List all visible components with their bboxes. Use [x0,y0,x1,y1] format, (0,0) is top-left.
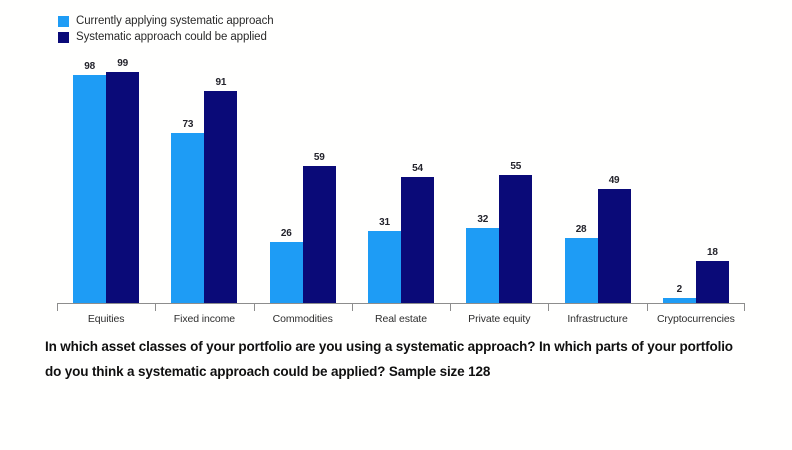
x-axis-tick-label: Commodities [254,313,352,325]
bar [401,177,434,303]
x-axis-tick [647,303,648,311]
x-axis-tick-label: Real estate [352,313,450,325]
bar-value-label: 55 [499,161,532,172]
bar-value-label: 73 [171,119,204,130]
legend-swatch-icon [58,16,69,27]
x-axis [57,303,745,313]
x-axis-tick-label: Fixed income [155,313,253,325]
bar-value-label: 28 [565,224,598,235]
chart-caption: In which asset classes of your portfolio… [45,334,751,384]
legend-item-label: Currently applying systematic approach [76,15,274,27]
bar-value-label: 18 [696,247,729,258]
bar [565,238,598,303]
chart-plot-area: 989973912659315432552849218 [57,70,745,303]
bar-value-label: 59 [303,152,336,163]
legend-item-currently-applying: Currently applying systematic approach [58,13,274,29]
bar [466,228,499,303]
legend-swatch-icon [58,32,69,43]
x-axis-tick-label: Private equity [450,313,548,325]
bar-value-label: 31 [368,217,401,228]
bar [204,91,237,303]
bar [499,175,532,303]
legend-item-could-be-applied: Systematic approach could be applied [58,29,274,45]
bar [598,189,631,303]
bar [73,75,106,303]
bar [368,231,401,303]
bar-value-label: 54 [401,163,434,174]
x-axis-line [57,303,745,304]
x-axis-tick [744,303,745,311]
bars-layer: 989973912659315432552849218 [57,70,745,303]
bar-value-label: 32 [466,214,499,225]
bar [106,72,139,303]
x-axis-tick [548,303,549,311]
x-axis-tick-label: Cryptocurrencies [647,313,745,325]
bar [303,166,336,303]
bar-value-label: 49 [598,175,631,186]
x-axis-tick-labels: EquitiesFixed incomeCommoditiesReal esta… [57,313,745,329]
x-axis-tick [57,303,58,311]
caption-line-1: In which asset classes of your portfolio… [45,339,676,354]
bar-value-label: 91 [204,77,237,88]
bar-value-label: 99 [106,58,139,69]
x-axis-tick [450,303,451,311]
bar [270,242,303,303]
x-axis-tick [254,303,255,311]
bar [171,133,204,303]
chart-legend: Currently applying systematic approach S… [58,13,274,45]
bar-value-label: 2 [663,284,696,295]
legend-item-label: Systematic approach could be applied [76,31,267,43]
bar-value-label: 98 [73,61,106,72]
x-axis-tick-label: Equities [57,313,155,325]
x-axis-tick [352,303,353,311]
bar [696,261,729,303]
x-axis-tick [155,303,156,311]
x-axis-tick-label: Infrastructure [548,313,646,325]
bar-value-label: 26 [270,228,303,239]
